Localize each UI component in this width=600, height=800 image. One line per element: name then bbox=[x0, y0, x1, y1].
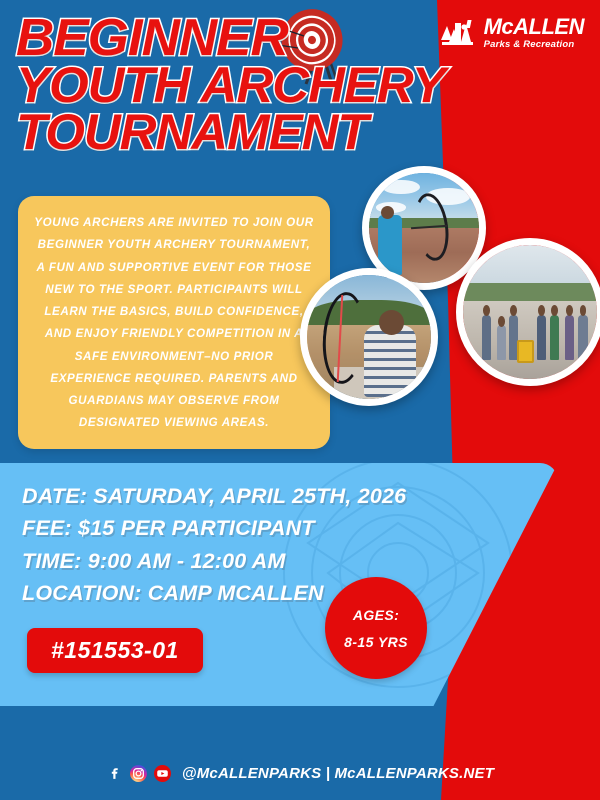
photo-boy-drawing-bow bbox=[300, 268, 438, 406]
description-card: YOUNG ARCHERS ARE INVITED TO JOIN OUR BE… bbox=[18, 196, 330, 449]
flyer-poster: BEGINNER YOUTH ARCHERY TOURNAMENT McALLE… bbox=[0, 0, 600, 800]
mcallen-parks-recreation-logo: McALLEN Parks & Recreation bbox=[440, 16, 584, 50]
footer-handle-text: @McALLENPARKS | McALLENPARKS.NET bbox=[182, 765, 494, 782]
title-line-2: YOUTH ARCHERY bbox=[16, 62, 444, 109]
logo-name: McALLEN bbox=[484, 16, 584, 38]
ages-label: AGES: bbox=[353, 607, 399, 623]
ages-value: 8-15 YRS bbox=[344, 634, 408, 650]
title-line-1: BEGINNER bbox=[16, 14, 444, 62]
mcallen-parks-mark-icon bbox=[440, 18, 478, 48]
detail-time: TIME: 9:00 AM - 12:00 AM bbox=[22, 545, 422, 577]
youtube-icon[interactable] bbox=[154, 765, 171, 782]
title-line-3: TOURNAMENT bbox=[16, 109, 444, 156]
logo-tagline: Parks & Recreation bbox=[484, 40, 584, 50]
footer-social-bar: @McALLENPARKS | McALLENPARKS.NET bbox=[0, 765, 600, 782]
program-code-text: #151553-01 bbox=[51, 637, 179, 663]
poster-title: BEGINNER YOUTH ARCHERY TOURNAMENT bbox=[16, 14, 436, 155]
description-text: YOUNG ARCHERS ARE INVITED TO JOIN OUR BE… bbox=[34, 212, 314, 435]
detail-fee: FEE: $15 PER PARTICIPANT bbox=[22, 512, 422, 544]
ages-badge: AGES: 8-15 YRS bbox=[325, 577, 427, 679]
detail-date: DATE: SATURDAY, APRIL 25TH, 2026 bbox=[22, 480, 422, 512]
program-code-badge: #151553-01 bbox=[27, 628, 203, 673]
instagram-icon[interactable] bbox=[130, 765, 147, 782]
facebook-icon[interactable] bbox=[106, 765, 123, 782]
photo-group-at-range bbox=[456, 238, 600, 386]
